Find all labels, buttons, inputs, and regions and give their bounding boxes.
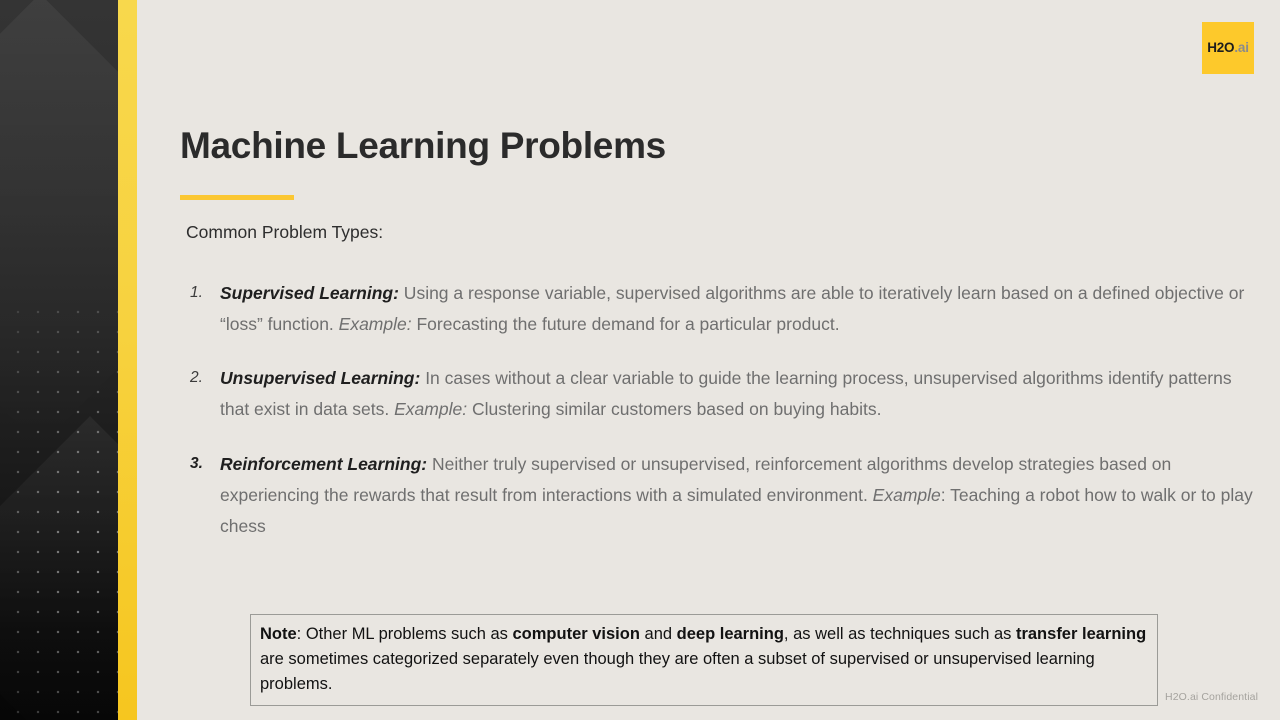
list-item-example-text: Forecasting the future demand for a part…: [412, 314, 840, 334]
note-bold-computer-vision: computer vision: [512, 625, 639, 643]
logo-ai-text: .ai: [1234, 40, 1248, 55]
list-item-number: 1.: [190, 278, 203, 308]
list-item-term: Unsupervised Learning:: [220, 368, 420, 388]
list-item-example-label: Example:: [394, 399, 467, 419]
footer-confidential-label: H2O.ai Confidential: [1165, 691, 1258, 703]
note-part-1: : Other ML problems such as: [297, 625, 513, 643]
note-part-2: and: [640, 625, 677, 643]
note-label: Note: [260, 625, 297, 643]
note-callout-box: Note: Other ML problems such as computer…: [250, 614, 1158, 706]
page-title: Machine Learning Problems: [180, 125, 666, 166]
list-item-example-label: Example:: [339, 314, 412, 334]
list-item-example-text: Clustering similar customers based on bu…: [467, 399, 881, 419]
problem-type-list: 1. Supervised Learning: Using a response…: [186, 278, 1264, 565]
list-item-example-label: Example: [873, 485, 941, 505]
slide-canvas: H2O.ai Machine Learning Problems Common …: [0, 0, 1280, 720]
accent-stripe: [118, 0, 137, 720]
note-part-3: , as well as techniques such as: [784, 625, 1016, 643]
note-bold-deep-learning: deep learning: [677, 625, 784, 643]
note-bold-transfer-learning: transfer learning: [1016, 625, 1146, 643]
logo-h2o-text: H2O: [1207, 40, 1234, 55]
note-part-4: are sometimes categorized separately eve…: [260, 650, 1095, 693]
list-item-term: Supervised Learning:: [220, 283, 399, 303]
left-decorative-panel: [0, 0, 118, 720]
intro-text: Common Problem Types:: [186, 220, 383, 245]
list-item-number: 3.: [190, 449, 203, 479]
list-item: 3. Reinforcement Learning: Neither truly…: [186, 449, 1264, 542]
list-item-number: 2.: [190, 363, 203, 393]
list-item: 1. Supervised Learning: Using a response…: [186, 278, 1264, 340]
panel-dot-pattern: [0, 296, 118, 720]
list-item-term: Reinforcement Learning:: [220, 454, 427, 474]
list-item: 2. Unsupervised Learning: In cases witho…: [186, 363, 1264, 425]
h2o-logo: H2O.ai: [1202, 22, 1254, 74]
title-underline-rule: [180, 195, 294, 200]
logo-wordmark: H2O.ai: [1207, 41, 1249, 55]
